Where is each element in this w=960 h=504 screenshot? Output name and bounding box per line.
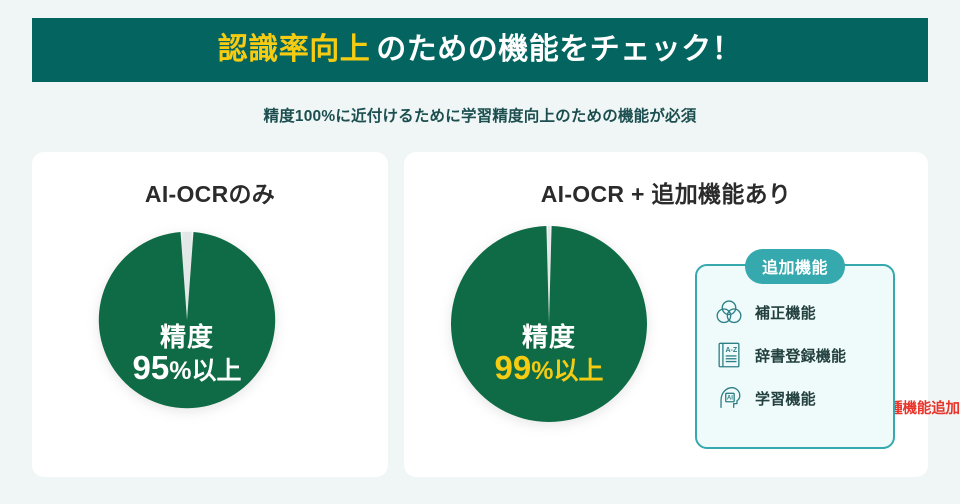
ai-head-icon: AI xyxy=(713,382,745,414)
banner-rest-text: のための機能をチェック！ xyxy=(376,33,742,66)
feature-label-correction: 補正機能 xyxy=(755,302,816,323)
header-banner: 認識率向上のための機能をチェック！ xyxy=(32,18,928,82)
additional-features-pill: 追加機能 xyxy=(745,249,845,284)
feature-item-dictionary[interactable]: A-Z 辞書登録機能 xyxy=(713,339,893,371)
subtitle-text: 精度100%に近付けるために学習精度向上のための機能が必須 xyxy=(0,104,960,126)
feature-item-correction[interactable]: 補正機能 xyxy=(713,296,893,328)
feature-label-learning: 学習機能 xyxy=(755,388,816,409)
card-ai-ocr-plus-features: AI-OCR + 追加機能あり 精度 99%以上 各種機能追加で 精度UP%! xyxy=(404,152,928,477)
additional-features-box: 追加機能 補正機能 A-Z xyxy=(695,264,895,449)
pie-chart-right-svg xyxy=(449,224,649,424)
card-left-title: AI-OCRのみ xyxy=(32,175,388,209)
pie-chart-left-svg xyxy=(97,230,277,410)
feature-list: 補正機能 A-Z 辞書登録機能 xyxy=(697,296,893,414)
pie-chart-right: 精度 99%以上 xyxy=(449,224,649,424)
card-ai-ocr-only: AI-OCRのみ 精度 95%以上 xyxy=(32,152,388,477)
venn-circles-icon xyxy=(713,296,745,328)
dictionary-book-icon: A-Z xyxy=(713,339,745,371)
card-right-title: AI-OCR + 追加機能あり xyxy=(404,175,928,209)
feature-label-dictionary: 辞書登録機能 xyxy=(755,345,846,366)
svg-text:AI: AI xyxy=(727,395,733,402)
feature-item-learning[interactable]: AI 学習機能 xyxy=(713,382,893,414)
banner-title: 認識率向上のための機能をチェック！ xyxy=(218,35,743,65)
svg-text:A-Z: A-Z xyxy=(725,347,737,354)
banner-highlight-text: 認識率向上 xyxy=(218,33,371,66)
pie-chart-left: 精度 95%以上 xyxy=(97,230,277,410)
